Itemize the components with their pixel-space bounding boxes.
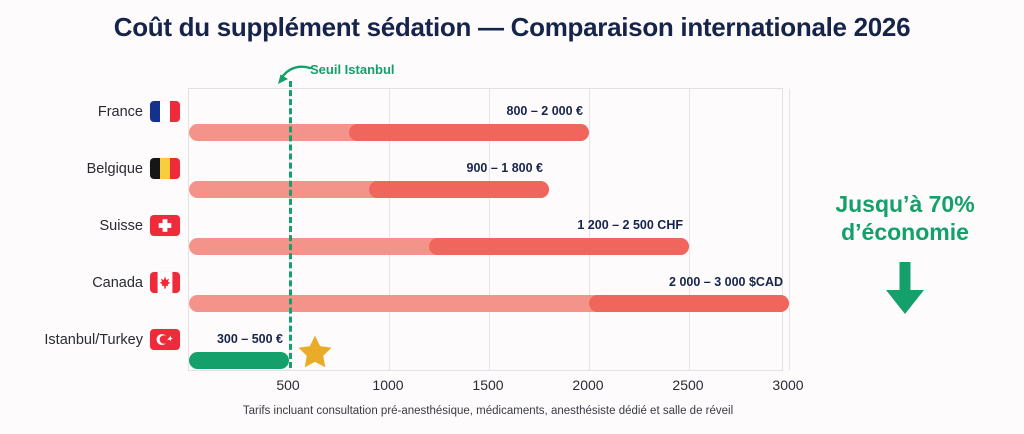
category-label-suisse: Suisse <box>0 197 188 254</box>
category-name: Canada <box>92 275 143 291</box>
bar-row: 800 – 2 000 € <box>189 104 782 161</box>
category-name: France <box>98 104 143 120</box>
threshold-arrow-icon <box>274 62 314 88</box>
callout-arrow-wrap <box>800 260 1010 316</box>
bar-value-label: 800 – 2 000 € <box>507 104 583 118</box>
category-name: Istanbul/Turkey <box>44 332 143 348</box>
star-icon <box>296 333 334 371</box>
category-name: Belgique <box>87 161 143 177</box>
callout-line-1: Jusqu’à 70% <box>800 190 1010 218</box>
arrow-down-icon <box>882 260 928 316</box>
page-title: Coût du supplément sédation — Comparaiso… <box>0 12 1024 43</box>
gridline-3000 <box>789 89 790 370</box>
category-label-france: France <box>0 83 188 140</box>
chart-page: Coût du supplément sédation — Comparaiso… <box>0 0 1024 434</box>
x-tick-2000: 2000 <box>572 377 603 393</box>
threshold-dashed-line <box>289 81 292 368</box>
category-label-belgique: Belgique <box>0 140 188 197</box>
bar-range-segment <box>589 295 789 312</box>
bar-track <box>189 352 289 369</box>
flag-turkey-icon <box>150 329 180 350</box>
flag-france-icon <box>150 101 180 122</box>
plot-area: 800 – 2 000 €900 – 1 800 €1 200 – 2 500 … <box>188 88 783 371</box>
bar-value-label: 900 – 1 800 € <box>467 161 543 175</box>
bar-value-label: 300 – 500 € <box>217 332 283 346</box>
bar-range-segment <box>369 181 549 198</box>
category-name: Suisse <box>99 218 143 234</box>
bar-value-label: 2 000 – 3 000 $CAD <box>669 275 783 289</box>
category-label-canada: Canada <box>0 254 188 311</box>
x-tick-1000: 1000 <box>372 377 403 393</box>
footnote: Tarifs incluant consultation pré-anesthé… <box>188 405 788 417</box>
savings-callout: Jusqu’à 70% d’économie <box>800 190 1010 316</box>
bar-range-segment <box>349 124 589 141</box>
x-tick-3000: 3000 <box>772 377 803 393</box>
bar-row: 1 200 – 2 500 CHF <box>189 218 782 275</box>
bar-row: 900 – 1 800 € <box>189 161 782 218</box>
flag-swiss-icon <box>150 215 180 236</box>
flag-canada-icon <box>150 272 180 293</box>
threshold-label: Seuil Istanbul <box>310 62 395 77</box>
category-label-istanbul-turkey: Istanbul/Turkey <box>0 311 188 368</box>
x-tick-500: 500 <box>276 377 299 393</box>
bar-range-segment <box>429 238 689 255</box>
callout-line-2: d’économie <box>800 218 1010 246</box>
flag-belgium-icon <box>150 158 180 179</box>
bar-row: 2 000 – 3 000 $CAD <box>189 275 782 332</box>
x-tick-1500: 1500 <box>472 377 503 393</box>
bar-value-label: 1 200 – 2 500 CHF <box>577 218 683 232</box>
x-tick-2500: 2500 <box>672 377 703 393</box>
